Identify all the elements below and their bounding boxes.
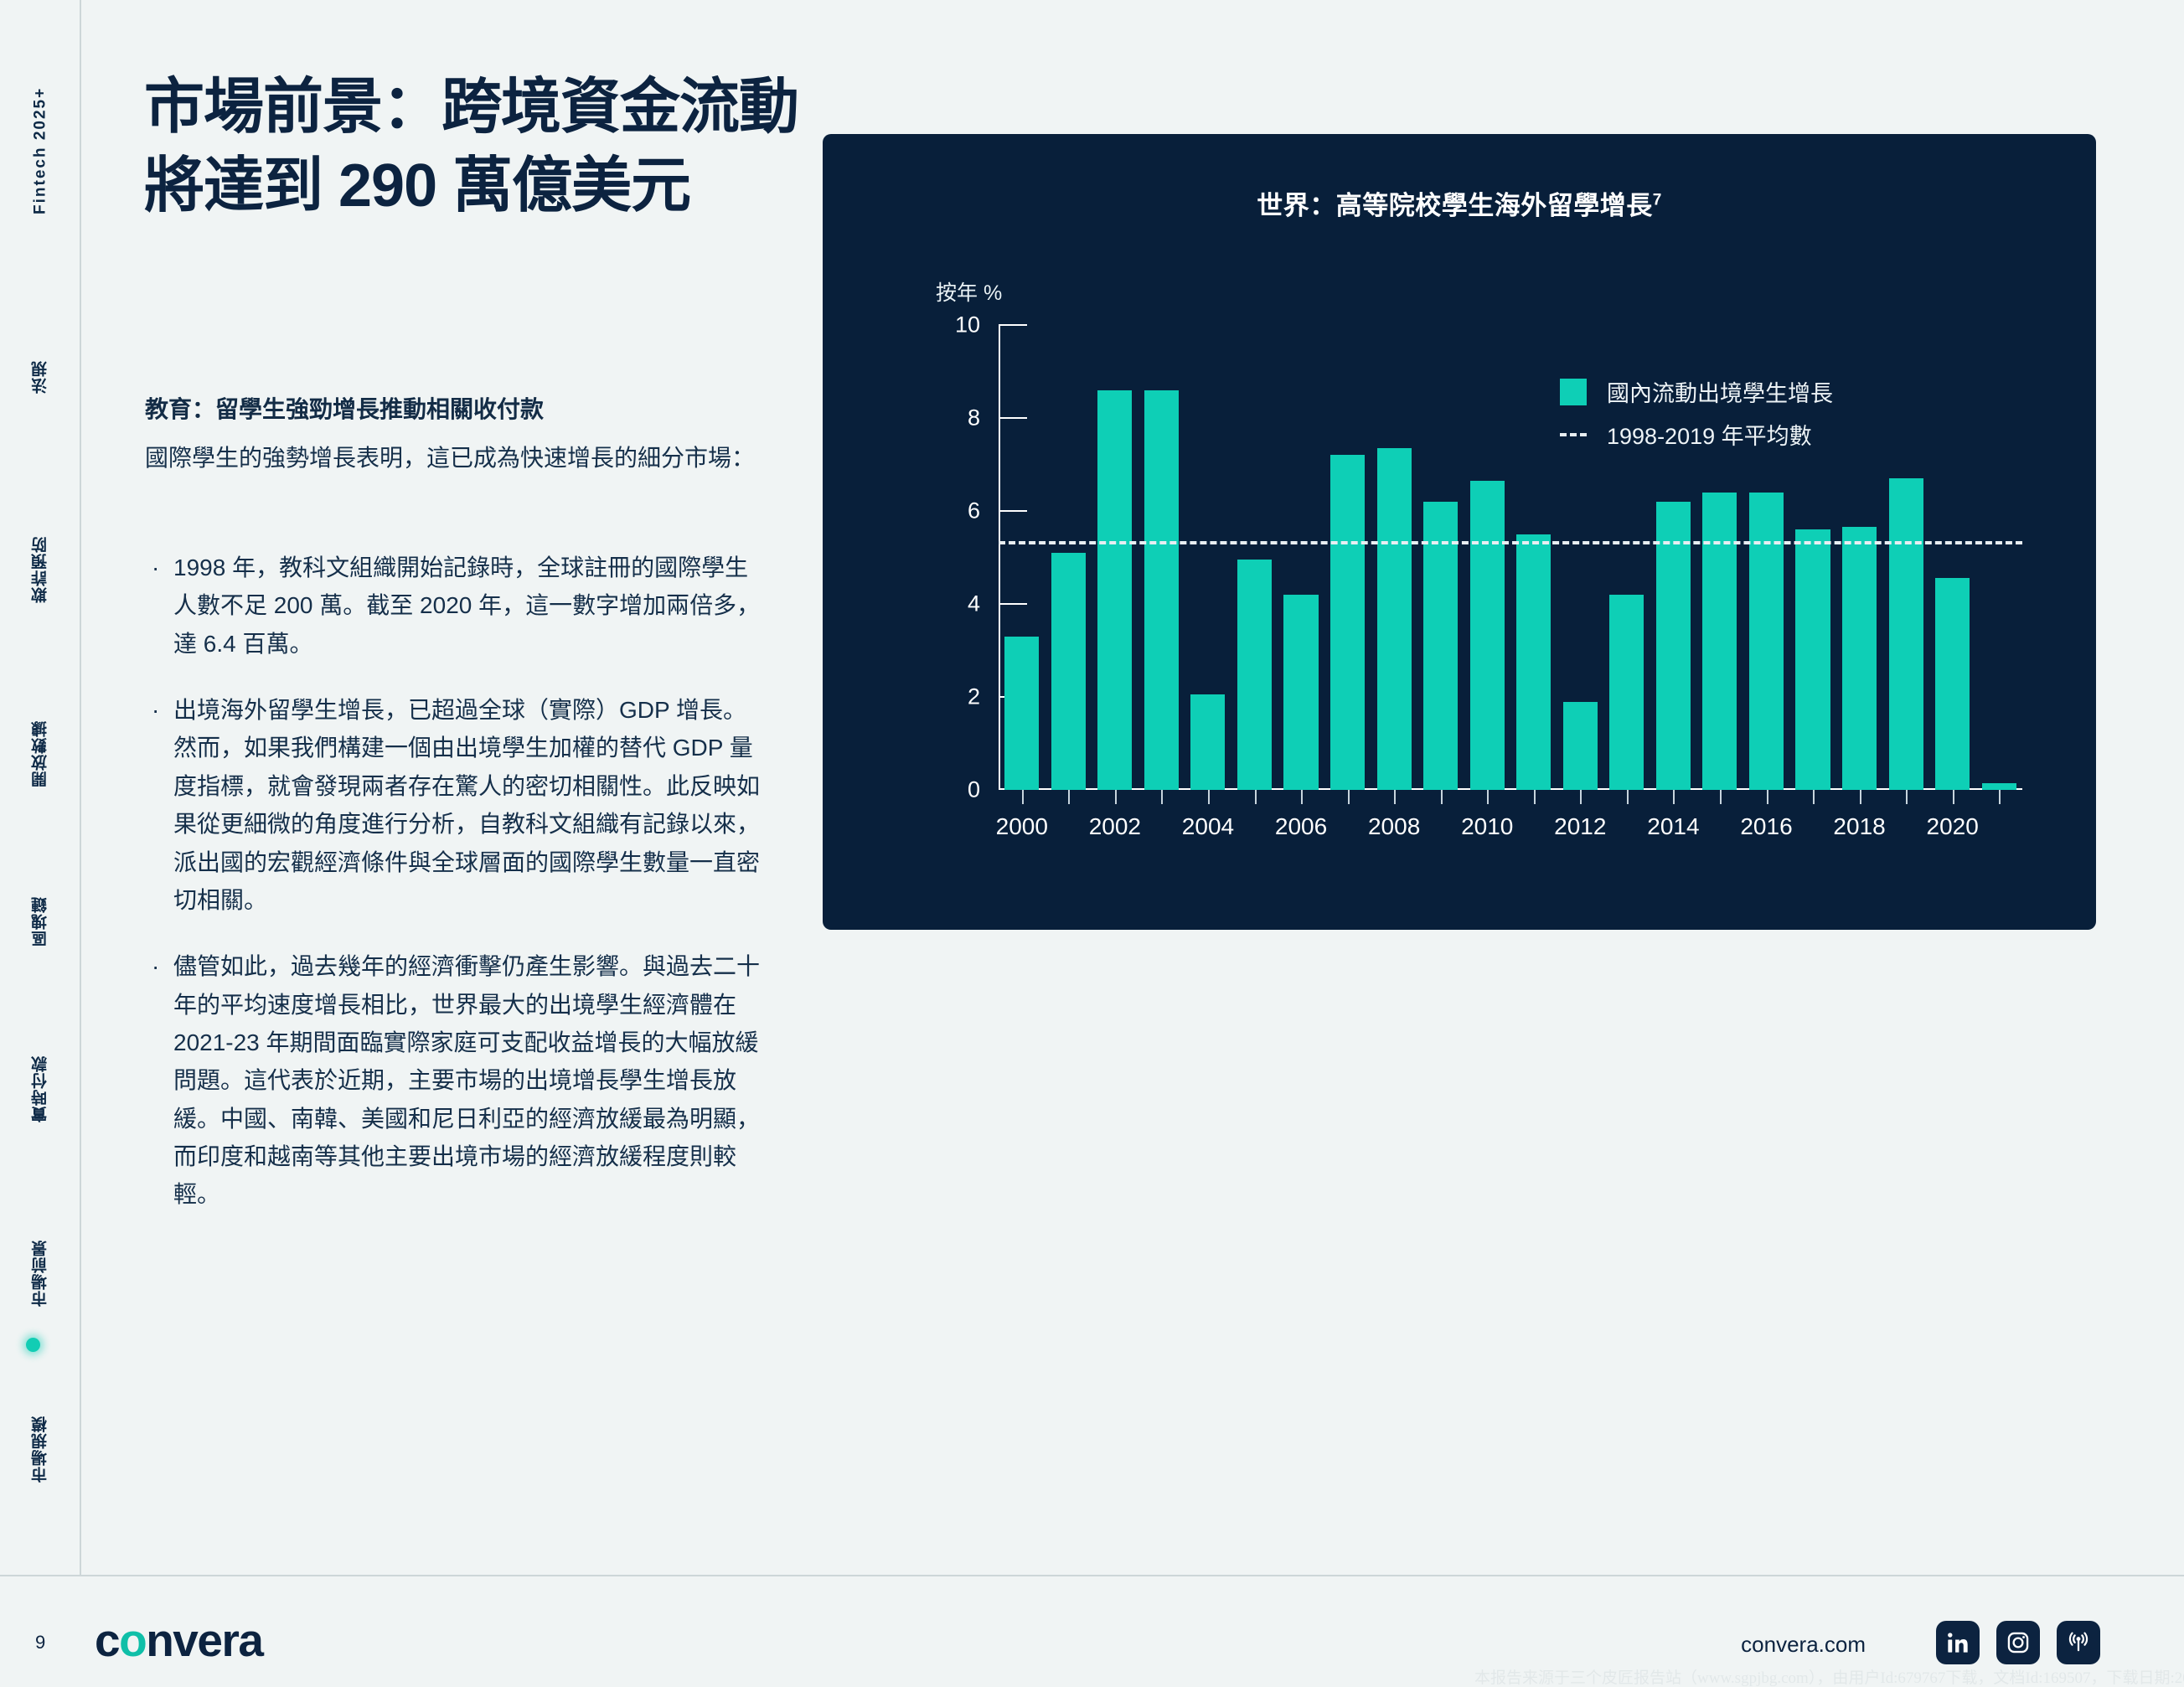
section-rail: Fintech 2025+ 法規 欺詐預防 開放數據 區塊鏈 實時付款 市場前景… xyxy=(0,0,81,1575)
lede-paragraph: 國際學生的強勢增長表明，這已成為快速增長的細分市場： xyxy=(145,439,765,477)
rail-brand: Fintech 2025+ xyxy=(0,25,81,276)
x-axis-tick-mark xyxy=(1161,790,1163,804)
x-axis-tick-label: 2020 xyxy=(1927,813,1979,840)
rail-item-regulation[interactable]: 法規 xyxy=(0,327,81,427)
x-axis-tick-mark xyxy=(1627,790,1629,804)
bullet-marker: · xyxy=(145,947,173,1214)
list-item: · 儘管如此，過去幾年的經濟衝擊仍產生影響。與過去二十年的平均速度增長相比，世界… xyxy=(145,947,782,1214)
rail-item-blockchain[interactable]: 區塊鏈 xyxy=(0,863,81,980)
rail-item-open-data[interactable]: 開放數據 xyxy=(0,678,81,829)
chart-title-text: 世界：高等院校學生海外留學增長 xyxy=(1257,191,1653,220)
average-reference-line xyxy=(999,541,2022,544)
list-item: · 出境海外留學生增長，已超過全球（實際）GDP 增長。然而，如果我們構建一個由… xyxy=(145,691,782,919)
x-axis-tick-label: 2000 xyxy=(996,813,1048,840)
x-axis-tick-mark xyxy=(1860,790,1861,804)
x-axis-tick-label: 2002 xyxy=(1089,813,1141,840)
bullet-marker: · xyxy=(145,549,173,663)
y-axis-tick-label: 2 xyxy=(968,684,999,710)
bar xyxy=(1144,390,1179,790)
list-item: · 1998 年，教科文組織開始記錄時，全球註冊的國際學生人數不足 200 萬。… xyxy=(145,549,782,663)
bar xyxy=(1609,595,1644,790)
bar xyxy=(1889,478,1923,790)
bar xyxy=(1330,455,1365,790)
x-axis-tick-label: 2012 xyxy=(1554,813,1606,840)
x-axis-tick-mark xyxy=(1301,790,1303,804)
x-axis-tick-mark xyxy=(1394,790,1396,804)
bullet-text: 出境海外留學生增長，已超過全球（實際）GDP 增長。然而，如果我們構建一個由出境… xyxy=(173,691,768,919)
watermark-text: 本报告来源于三个皮匠报告站（www.sgpjbg.com），由用户Id:6797… xyxy=(1474,1665,2184,1687)
x-axis-tick-mark xyxy=(1022,790,1024,804)
bar xyxy=(1377,448,1412,790)
rail-item-market-outlook[interactable]: 市場前景 xyxy=(0,1198,81,1349)
convera-logo: convera xyxy=(95,1613,262,1667)
bar xyxy=(1004,637,1039,790)
chart-plot-area: 0246810 20002002200420062008201020122014… xyxy=(999,325,2022,790)
x-axis-tick-mark xyxy=(1673,790,1675,804)
linkedin-icon[interactable] xyxy=(1936,1621,1980,1664)
x-axis-tick-label: 2006 xyxy=(1275,813,1327,840)
x-axis-tick-mark xyxy=(1255,790,1257,804)
rail-item-fraud-prevention[interactable]: 欺詐預防 xyxy=(0,494,81,645)
x-axis-tick-mark xyxy=(1348,790,1350,804)
bar xyxy=(1516,534,1551,790)
bar xyxy=(1563,702,1598,790)
bar xyxy=(1051,553,1086,790)
bar xyxy=(1749,493,1784,790)
rail-item-market-size[interactable]: 市場規模 xyxy=(0,1374,81,1524)
x-axis-tick-label: 2004 xyxy=(1182,813,1234,840)
bar xyxy=(1842,527,1877,790)
x-axis-tick-mark xyxy=(1813,790,1815,804)
bar xyxy=(1470,481,1505,790)
x-axis-tick-mark xyxy=(1906,790,1908,804)
x-axis-tick-label: 2008 xyxy=(1368,813,1420,840)
bullet-text: 儘管如此，過去幾年的經濟衝擊仍產生影響。與過去二十年的平均速度增長相比，世界最大… xyxy=(173,947,768,1214)
chart-title-footnote-marker: 7 xyxy=(1653,192,1662,209)
x-axis-tick-label: 2018 xyxy=(1833,813,1885,840)
x-axis-tick-mark xyxy=(1953,790,1954,804)
x-axis-tick-mark xyxy=(1534,790,1536,804)
bar xyxy=(1097,390,1132,790)
podcast-icon[interactable] xyxy=(2057,1621,2100,1664)
bullet-text: 1998 年，教科文組織開始記錄時，全球註冊的國際學生人數不足 200 萬。截至… xyxy=(173,549,768,663)
x-axis-tick-mark xyxy=(1115,790,1117,804)
instagram-icon[interactable] xyxy=(1996,1621,2040,1664)
bar xyxy=(1982,783,2016,790)
y-axis-tick-label: 10 xyxy=(955,312,999,338)
section-subhead: 教育：留學生強勁增長推動相關收付款 xyxy=(145,392,782,427)
y-axis-tick-label: 0 xyxy=(968,777,999,803)
logo-part-2: nvera xyxy=(146,1614,262,1666)
rail-active-indicator-dot xyxy=(26,1338,40,1352)
y-axis-tick-label: 8 xyxy=(968,405,999,431)
x-axis-tick-mark xyxy=(1208,790,1210,804)
bar xyxy=(1190,694,1225,790)
y-axis-tick-label: 4 xyxy=(968,591,999,617)
x-axis-tick-mark xyxy=(1999,790,2001,804)
x-axis-tick-mark xyxy=(1580,790,1582,804)
y-axis-unit-label: 按年 % xyxy=(936,276,1002,307)
bullet-list: · 1998 年，教科文組織開始記錄時，全球註冊的國際學生人數不足 200 萬。… xyxy=(145,549,782,1242)
chart-title: 世界：高等院校學生海外留學增長7 xyxy=(823,184,2096,222)
x-axis-tick-label: 2014 xyxy=(1647,813,1699,840)
x-axis-tick-mark xyxy=(1068,790,1070,804)
bar xyxy=(1795,529,1830,790)
footer-divider xyxy=(0,1575,2184,1576)
x-axis-tick-mark xyxy=(1441,790,1443,804)
x-axis-tick-mark xyxy=(1767,790,1768,804)
bar-series xyxy=(999,325,2022,790)
x-axis-tick-mark xyxy=(1487,790,1489,804)
bar xyxy=(1935,578,1970,790)
slide-page: Fintech 2025+ 法規 欺詐預防 開放數據 區塊鏈 實時付款 市場前景… xyxy=(0,0,2184,1687)
page-number: 9 xyxy=(35,1632,45,1653)
bar xyxy=(1283,595,1318,790)
social-links xyxy=(1936,1621,2100,1664)
website-link[interactable]: convera.com xyxy=(1741,1632,1866,1658)
chart-card: 世界：高等院校學生海外留學增長7 按年 % 國內流動出境學生增長 1998-20… xyxy=(823,134,2096,930)
logo-accent-o: o xyxy=(119,1614,146,1666)
y-axis-tick-label: 6 xyxy=(968,498,999,524)
bullet-marker: · xyxy=(145,691,173,919)
bar xyxy=(1656,502,1691,790)
logo-part-1: c xyxy=(95,1614,119,1666)
x-axis-tick-label: 2016 xyxy=(1740,813,1792,840)
page-title: 市場前景：跨境資金流動將達到 290 萬億美元 xyxy=(144,69,806,225)
bar xyxy=(1702,493,1737,790)
bar xyxy=(1237,560,1272,790)
x-axis-tick-label: 2010 xyxy=(1461,813,1513,840)
rail-item-realtime-payments[interactable]: 實時付款 xyxy=(0,1014,81,1164)
bar xyxy=(1423,502,1458,790)
x-axis-tick-mark xyxy=(1720,790,1722,804)
